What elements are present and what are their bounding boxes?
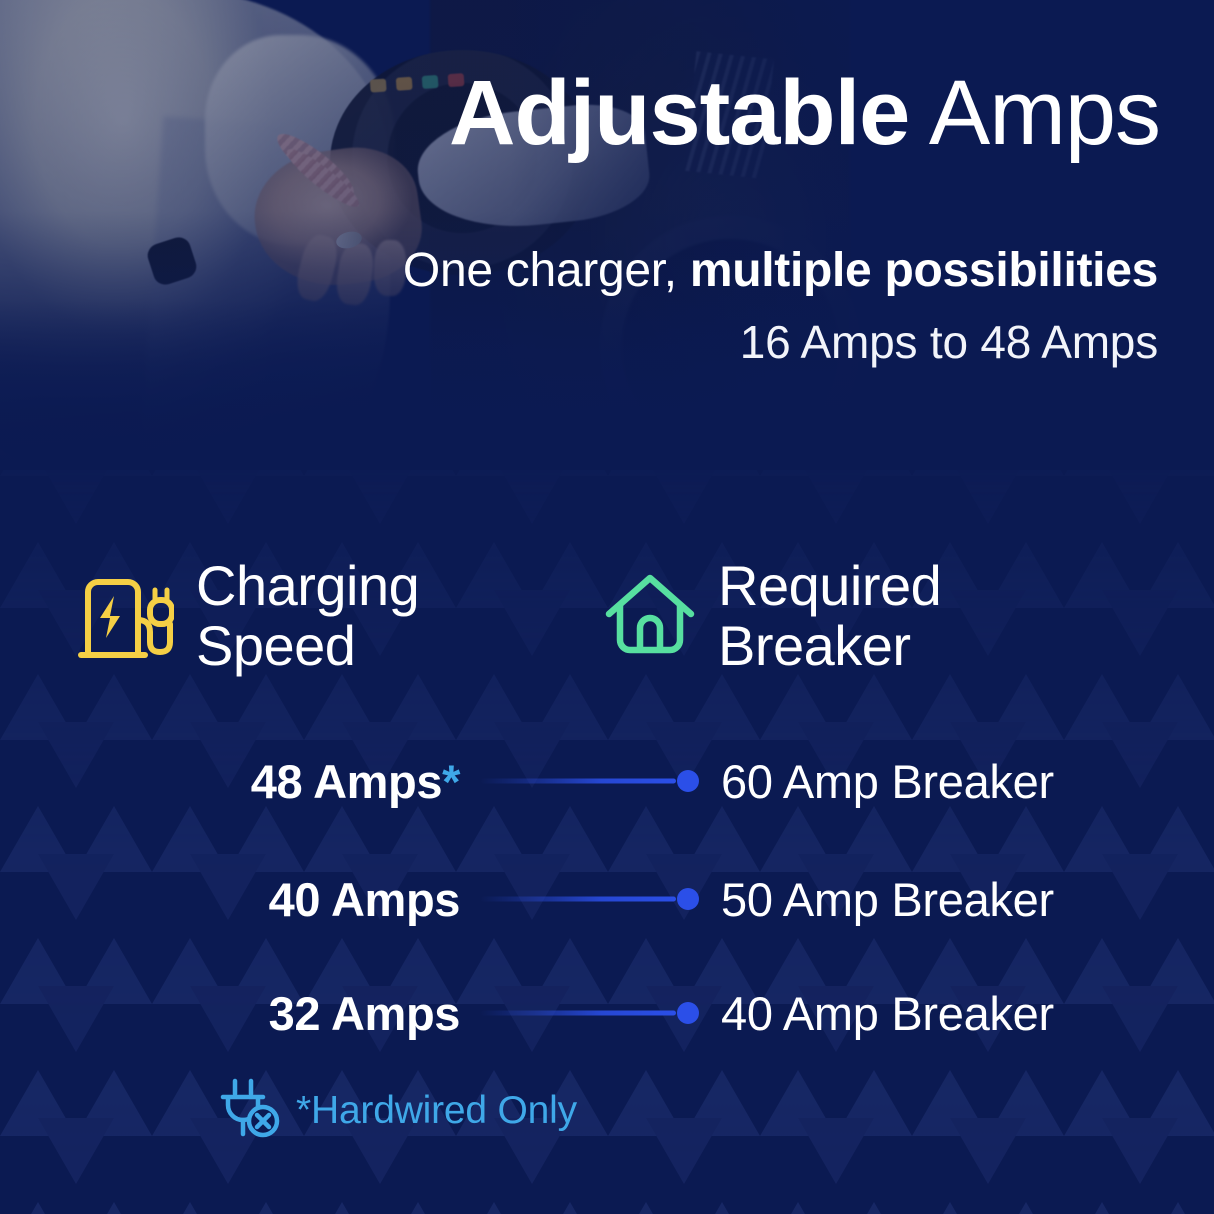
connector-line — [480, 897, 676, 902]
column-header-right-label: Required Breaker — [718, 556, 941, 676]
breaker-value: 40 Amp Breaker — [721, 986, 1150, 1041]
column-header-left-line2: Speed — [196, 614, 355, 677]
table-row: 32 Amps 40 Amp Breaker — [80, 976, 1150, 1050]
subtitle-range: 16 Amps to 48 Amps — [0, 315, 1158, 369]
footnote: *Hardwired Only — [218, 1077, 577, 1144]
column-header-required-breaker: Required Breaker — [604, 556, 941, 676]
subtitle-light: One charger, — [403, 244, 690, 297]
connector-dot — [677, 770, 699, 792]
breaker-value: 50 Amp Breaker — [721, 872, 1150, 927]
amps-text: 40 Amps — [269, 873, 460, 926]
footnote-asterisk: * — [442, 755, 460, 808]
table-row: 40 Amps 50 Amp Breaker — [80, 862, 1150, 936]
adjustable-amps-infographic: Adjustable Amps One charger, multiple po… — [0, 0, 1214, 1214]
column-header-right-line1: Required — [718, 554, 941, 617]
title-light: Amps — [909, 62, 1160, 164]
row-connector — [480, 1003, 705, 1023]
amps-value: 32 Amps — [80, 986, 470, 1041]
title-bold: Adjustable — [449, 62, 909, 164]
subtitle-bold: multiple possibilities — [690, 244, 1158, 297]
breaker-value: 60 Amp Breaker — [721, 754, 1150, 809]
column-header-right-line2: Breaker — [718, 614, 911, 677]
amps-text: 32 Amps — [269, 987, 460, 1040]
subtitle: One charger, multiple possibilities — [0, 243, 1158, 299]
row-connector — [480, 889, 705, 909]
connector-line — [480, 779, 676, 784]
row-connector — [480, 771, 705, 791]
table-row: 48 Amps* 60 Amp Breaker — [80, 744, 1150, 818]
page-title: Adjustable Amps — [0, 66, 1160, 162]
ev-charging-station-icon — [78, 570, 174, 667]
connector-line — [480, 1011, 676, 1016]
connector-dot — [677, 888, 699, 910]
connector-dot — [677, 1002, 699, 1024]
no-plug-icon — [218, 1077, 280, 1144]
column-header-left-line1: Charging — [196, 554, 419, 617]
amps-value: 48 Amps* — [80, 754, 470, 809]
column-header-charging-speed: Charging Speed — [78, 556, 419, 676]
column-header-left-label: Charging Speed — [196, 556, 419, 676]
amps-text: 48 Amps — [251, 755, 442, 808]
amps-value: 40 Amps — [80, 872, 470, 927]
house-icon — [604, 570, 696, 667]
footnote-text: *Hardwired Only — [296, 1089, 577, 1133]
